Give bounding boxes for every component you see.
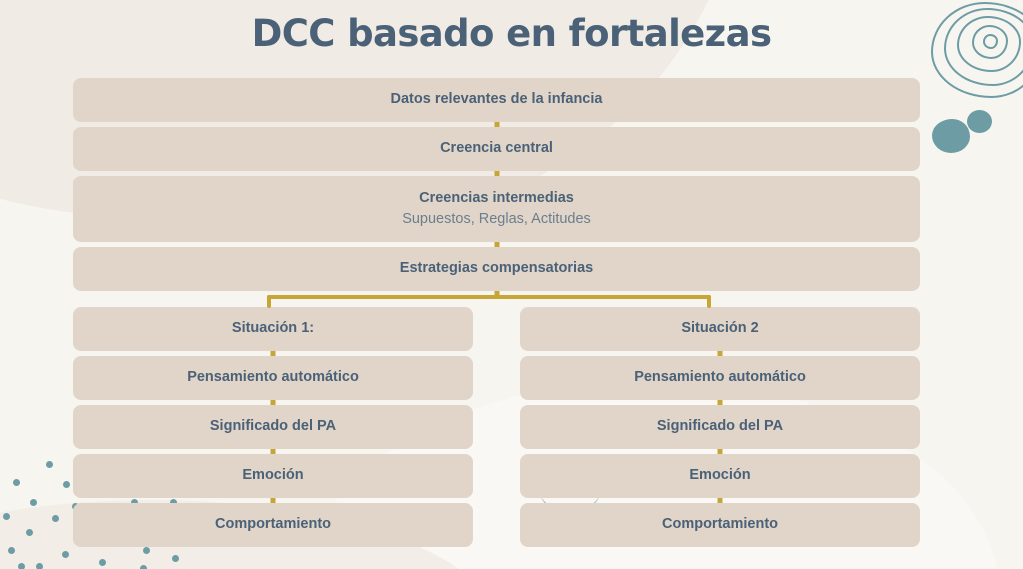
node-label: Significado del PA [657, 418, 783, 435]
node-creencias-intermedias[interactable]: Creencias intermedias Supuestos, Reglas,… [73, 176, 920, 242]
node-label: Datos relevantes de la infancia [391, 91, 603, 108]
node-situacion-1-significado[interactable]: Significado del PA [73, 405, 473, 449]
node-label: Significado del PA [210, 418, 336, 435]
teal-blob-small-icon [967, 110, 992, 133]
branch-column-situacion-2: Situación 2 Pensamiento automático Signi… [520, 307, 920, 547]
connector-tick [520, 351, 920, 356]
node-label: Emoción [689, 467, 750, 484]
node-label: Creencia central [440, 140, 553, 157]
node-label: Situación 2 [681, 320, 758, 337]
connector-tick [73, 171, 920, 176]
node-label: Pensamiento automático [634, 369, 806, 386]
connector-tick [520, 400, 920, 405]
connector-tick [73, 449, 473, 454]
node-situacion-1-pensamiento[interactable]: Pensamiento automático [73, 356, 473, 400]
connector-tick [73, 122, 920, 127]
branch-bracket-connector [73, 291, 920, 307]
node-situacion-2-comportamiento[interactable]: Comportamiento [520, 503, 920, 547]
connector-tick [73, 400, 473, 405]
node-label: Emoción [242, 467, 303, 484]
node-situacion-1-emocion[interactable]: Emoción [73, 454, 473, 498]
connector-tick [520, 449, 920, 454]
node-label: Creencias intermedias [419, 190, 574, 207]
node-situacion-2-pensamiento[interactable]: Pensamiento automático [520, 356, 920, 400]
node-estrategias-compensatorias[interactable]: Estrategias compensatorias [73, 247, 920, 291]
node-label: Situación 1: [232, 320, 314, 337]
teal-blob-large-icon [932, 119, 970, 153]
node-situacion-1-header[interactable]: Situación 1: [73, 307, 473, 351]
slide-canvas: DCC basado en fortalezas Datos relevante… [0, 0, 1023, 569]
bracket-bar [267, 295, 711, 299]
node-datos-relevantes[interactable]: Datos relevantes de la infancia [73, 78, 920, 122]
node-situacion-1-comportamiento[interactable]: Comportamiento [73, 503, 473, 547]
node-situacion-2-header[interactable]: Situación 2 [520, 307, 920, 351]
node-sublabel: Supuestos, Reglas, Actitudes [402, 211, 591, 228]
bracket-drop-left [267, 295, 271, 308]
connector-tick [73, 242, 920, 247]
connector-tick [73, 351, 473, 356]
node-situacion-2-emocion[interactable]: Emoción [520, 454, 920, 498]
connector-tick [73, 498, 473, 503]
node-label: Comportamiento [662, 516, 778, 533]
node-label: Estrategias compensatorias [400, 260, 593, 277]
branch-columns: Situación 1: Pensamiento automático Sign… [73, 307, 920, 547]
node-label: Comportamiento [215, 516, 331, 533]
node-label: Pensamiento automático [187, 369, 359, 386]
page-title: DCC basado en fortalezas [0, 12, 1023, 55]
node-creencia-central[interactable]: Creencia central [73, 127, 920, 171]
branch-column-situacion-1: Situación 1: Pensamiento automático Sign… [73, 307, 473, 547]
node-situacion-2-significado[interactable]: Significado del PA [520, 405, 920, 449]
connector-tick [520, 498, 920, 503]
flow-diagram: Datos relevantes de la infancia Creencia… [73, 78, 920, 547]
bracket-drop-right [707, 295, 711, 308]
